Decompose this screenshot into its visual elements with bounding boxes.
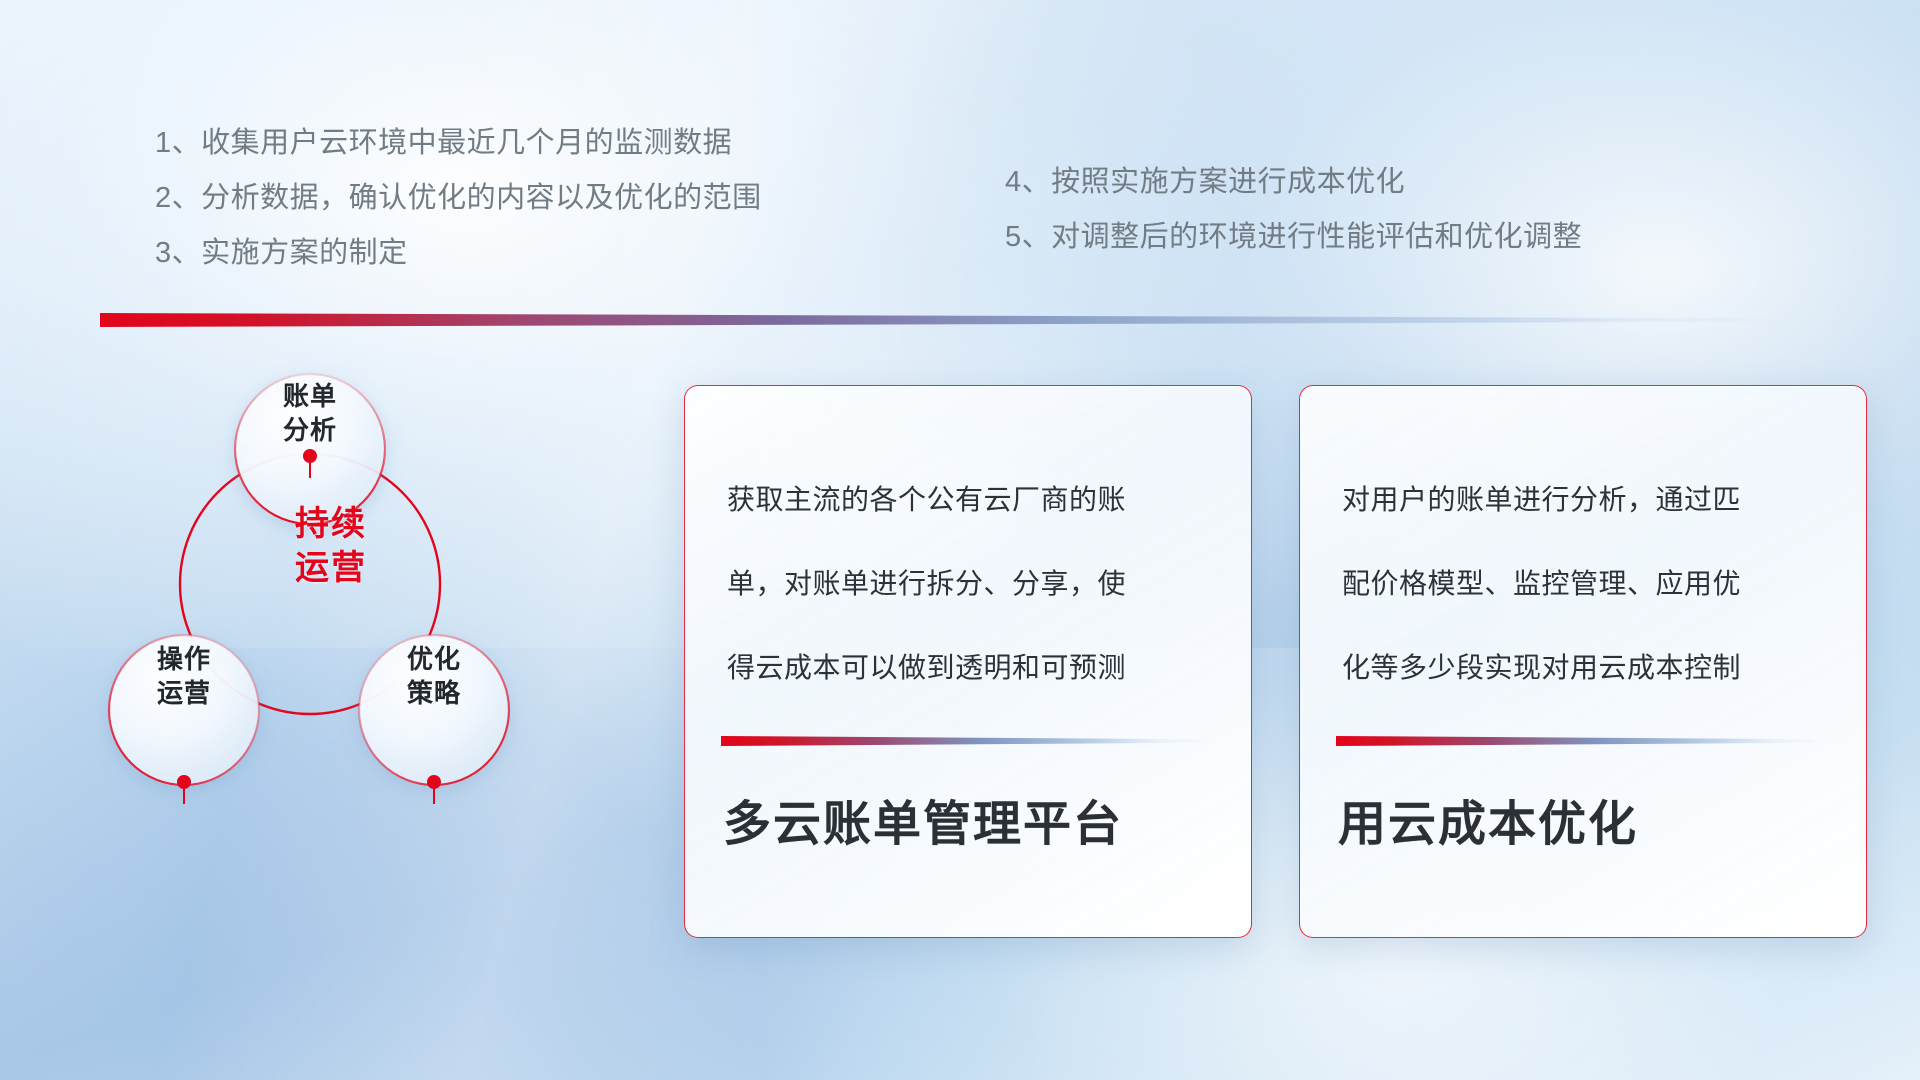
card-body-line-1: 获取主流的各个公有云厂商的账 bbox=[727, 458, 1217, 542]
card-multi-cloud-billing-platform[interactable]: 获取主流的各个公有云厂商的账 单，对账单进行拆分、分享，使 得云成本可以做到透明… bbox=[684, 385, 1252, 938]
step-item-1: 1、收集用户云环境中最近几个月的监测数据 bbox=[155, 116, 762, 171]
venn-label-operations: 操作 运营 bbox=[104, 642, 264, 710]
card-rule bbox=[721, 736, 1213, 746]
venn-label-line-2: 策略 bbox=[354, 676, 514, 710]
venn-dot-bottom-right bbox=[427, 775, 441, 789]
card-body-line-1: 对用户的账单进行分析，通过匹 bbox=[1342, 458, 1832, 542]
venn-dot-bottom-left bbox=[177, 775, 191, 789]
card-title: 用云成本优化 bbox=[1338, 784, 1842, 854]
card-body-text: 对用户的账单进行分析，通过匹 配价格模型、监控管理、应用优 化等多少段实现对用云… bbox=[1342, 458, 1832, 710]
card-body-line-2: 配价格模型、监控管理、应用优 bbox=[1342, 542, 1832, 626]
steps-column-left: 1、收集用户云环境中最近几个月的监测数据 2、分析数据，确认优化的内容以及优化的… bbox=[155, 116, 762, 281]
venn-center-line-1: 持续 bbox=[246, 502, 416, 546]
venn-label-line-1: 操作 bbox=[104, 642, 264, 676]
venn-center-line-2: 运营 bbox=[246, 546, 416, 590]
venn-center-label: 持续 运营 bbox=[246, 502, 416, 590]
venn-label-line-2: 分析 bbox=[230, 413, 390, 447]
venn-label-line-2: 运营 bbox=[104, 676, 264, 710]
venn-label-optimization-strategy: 优化 策略 bbox=[354, 642, 514, 710]
card-body-line-3: 化等多少段实现对用云成本控制 bbox=[1342, 626, 1832, 710]
step-item-3: 3、实施方案的制定 bbox=[155, 226, 762, 281]
card-cloud-cost-optimization[interactable]: 对用户的账单进行分析，通过匹 配价格模型、监控管理、应用优 化等多少段实现对用云… bbox=[1299, 385, 1867, 938]
card-rule-bar bbox=[1336, 736, 1828, 746]
step-item-5: 5、对调整后的环境进行性能评估和优化调整 bbox=[1005, 210, 1582, 265]
card-body-text: 获取主流的各个公有云厂商的账 单，对账单进行拆分、分享，使 得云成本可以做到透明… bbox=[727, 458, 1217, 710]
venn-label-billing-analysis: 账单 分析 bbox=[230, 379, 390, 447]
steps-column-right: 4、按照实施方案进行成本优化 5、对调整后的环境进行性能评估和优化调整 bbox=[1005, 155, 1582, 265]
venn-diagram: 账单 分析 操作 运营 优化 策略 持续 运营 bbox=[96, 352, 616, 852]
divider-bar bbox=[100, 313, 1800, 327]
venn-label-line-1: 账单 bbox=[230, 379, 390, 413]
venn-label-line-1: 优化 bbox=[354, 642, 514, 676]
card-title: 多云账单管理平台 bbox=[723, 784, 1227, 854]
section-divider bbox=[100, 313, 1800, 327]
card-body-line-2: 单，对账单进行拆分、分享，使 bbox=[727, 542, 1217, 626]
card-rule bbox=[1336, 736, 1828, 746]
step-item-2: 2、分析数据，确认优化的内容以及优化的范围 bbox=[155, 171, 762, 226]
card-body-line-3: 得云成本可以做到透明和可预测 bbox=[727, 626, 1217, 710]
step-item-4: 4、按照实施方案进行成本优化 bbox=[1005, 155, 1582, 210]
card-rule-bar bbox=[721, 736, 1213, 746]
venn-dot-top bbox=[303, 449, 317, 463]
